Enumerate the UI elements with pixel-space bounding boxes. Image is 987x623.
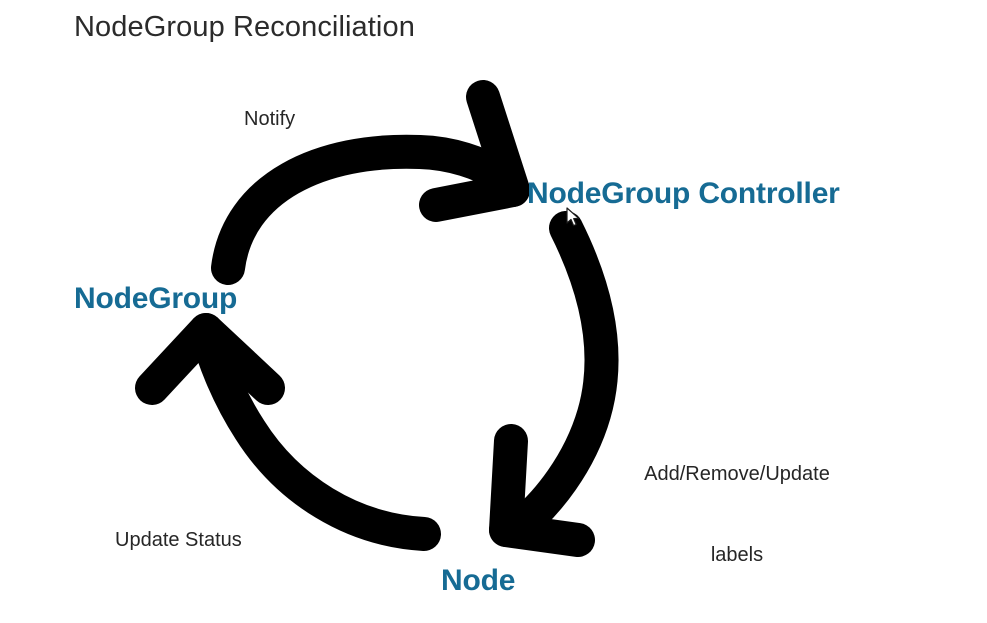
edge-label-line-1: Add/Remove/Update xyxy=(626,461,848,488)
diagram-canvas: NodeGroup Reconciliation NodeGroup Contr… xyxy=(0,0,987,613)
node-label-node: Node xyxy=(441,563,515,598)
edge-label-line-2: labels xyxy=(626,542,848,569)
edge-label-add-remove-update-labels: Add/Remove/Update labels xyxy=(626,407,848,623)
node-label-nodegroup: NodeGroup xyxy=(74,281,237,316)
curved-arrow-down-left-icon xyxy=(506,228,602,540)
curved-arrow-up-icon xyxy=(152,330,424,534)
page-title: NodeGroup Reconciliation xyxy=(74,10,415,44)
node-label-nodegroup-controller: NodeGroup Controller xyxy=(527,176,840,211)
edge-label-update-status: Update Status xyxy=(115,529,242,553)
edge-label-notify: Notify xyxy=(244,108,295,132)
